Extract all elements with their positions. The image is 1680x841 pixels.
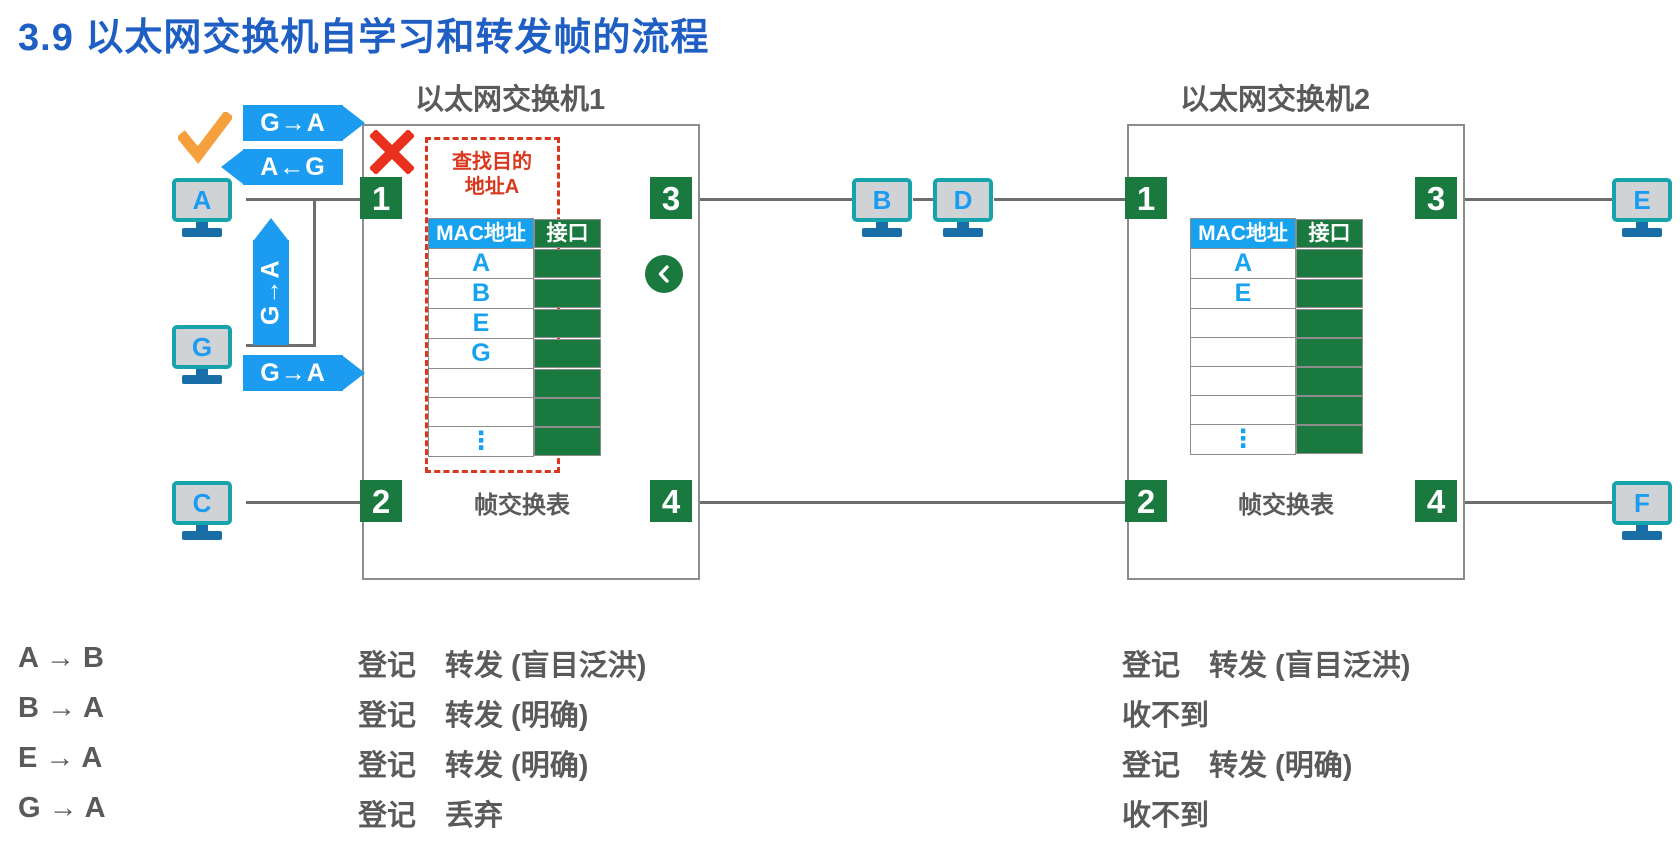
link-switch1-port4-to-switch2-port2 [690,501,1138,504]
switch2-cell-port [1296,396,1363,425]
link-switch2-to-f [1455,501,1612,504]
table-row: B 3 [429,279,535,309]
switch1-port-2[interactable]: 2 [360,480,402,522]
host-f-label: F [1612,481,1672,525]
host-stand-base [1622,531,1662,540]
host-stand-base [862,228,902,237]
table-row: ⋮ ⋮ [1191,425,1297,455]
switch2-cell-mac [1191,338,1296,367]
switch1-cell-mac: B [429,279,534,309]
host-c-label: C [172,481,232,525]
table-row: G 1 [429,339,535,369]
switch1-header-port: 接口 [534,219,601,248]
switch2-title: 以太网交换机2 [1180,76,1370,118]
link-switch2-to-e [1455,198,1612,201]
table-row [1191,309,1297,338]
switch2-port-4[interactable]: 4 [1415,480,1457,522]
table-row: A 1 [429,249,535,279]
table-row: E 4 [429,309,535,339]
table-header-row: MAC地址 接口 [429,219,535,249]
switch1-header-mac: MAC地址 [429,219,534,249]
table-row: ⋮ ⋮ [429,427,535,457]
switch2-header-port: 接口 [1296,219,1363,248]
legend-switch1-action-2: 登记 转发 (明确) [358,692,588,734]
link-switch1-to-b [690,198,852,201]
table-row [1191,367,1297,396]
host-e-label: E [1612,178,1672,222]
chevron-left-icon[interactable] [645,255,683,293]
switch2-cell-port: ⋮ [1296,425,1363,454]
legend-switch2-action-3: 登记 转发 (明确) [1122,742,1352,784]
legend-switch2-action-1: 登记 转发 (盲目泛洪) [1122,642,1410,684]
host-a[interactable]: A [172,178,232,240]
switch2-cell-port: 3 [1296,279,1363,308]
switch2-table-caption: 帧交换表 [1238,485,1334,520]
switch1-cell-port: 3 [534,279,601,308]
switch2-cell-mac [1191,309,1296,338]
frame-label-ag-in: A←G [243,149,343,185]
switch1-cell-mac [429,398,534,427]
switch1-cell-mac: A [429,249,534,279]
frame-label-ga-vertical: G→A [253,240,289,345]
frame-arrow-up-ga-vertical [254,218,288,240]
check-mark-icon [178,112,232,166]
switch2-cell-port: 2 [1296,249,1363,278]
switch2-cell-port [1296,338,1363,367]
host-b[interactable]: B [852,178,912,240]
host-stand-base [943,228,983,237]
table-row [429,369,535,398]
switch1-cell-mac: ⋮ [429,427,534,457]
switch1-title: 以太网交换机1 [415,76,605,118]
frame-label-ga-bottom: G→A [243,355,343,391]
frame-label-ga-out: G→A [243,105,343,141]
host-e[interactable]: E [1612,178,1672,240]
switch1-port-4[interactable]: 4 [650,480,692,522]
host-stand-base [182,228,222,237]
table-row [1191,396,1297,425]
host-c[interactable]: C [172,481,232,543]
link-g-riser [313,198,316,346]
legend-flow-3: E → A [18,742,102,775]
table-row: E 3 [1191,279,1297,309]
legend-switch1-action-3: 登记 转发 (明确) [358,742,588,784]
host-b-label: B [852,178,912,222]
switch2-cell-mac: E [1191,279,1296,309]
switch1-port-1[interactable]: 1 [360,177,402,219]
switch1-cell-port [534,369,601,398]
switch2-header-mac: MAC地址 [1191,219,1296,249]
switch2-cell-mac [1191,396,1296,425]
legend-switch1-action-1: 登记 转发 (盲目泛洪) [358,642,646,684]
switch1-port-3[interactable]: 3 [650,177,692,219]
table-row [1191,338,1297,367]
switch2-port-2[interactable]: 2 [1125,480,1167,522]
switch1-cell-mac: E [429,309,534,339]
frame-arrow-right-ga-out [343,106,365,140]
switch2-port-3[interactable]: 3 [1415,177,1457,219]
cross-mark-icon [370,130,414,174]
host-d-label: D [933,178,993,222]
lookup-label: 查找目的 地址A [427,150,557,200]
switch1-cell-port: ⋮ [534,427,601,456]
switch2-cell-mac [1191,367,1296,396]
host-f[interactable]: F [1612,481,1672,543]
switch1-cell-port: 4 [534,309,601,338]
host-g[interactable]: G [172,325,232,387]
switch1-frame-table: MAC地址 接口 A 1 B 3 E 4 G 1 ⋮ ⋮ [428,218,535,457]
lookup-label-line1: 查找目的 [427,150,557,175]
switch1-cell-port: 1 [534,249,601,278]
host-stand-base [182,375,222,384]
switch1-cell-port: 1 [534,339,601,368]
switch2-cell-port [1296,367,1363,396]
link-b-to-d [913,198,933,201]
table-row [429,398,535,427]
host-d[interactable]: D [933,178,993,240]
legend-flow-2: B → A [18,692,104,725]
lookup-label-line2: 地址A [427,175,557,200]
switch2-cell-port [1296,309,1363,338]
link-d-to-switch2 [994,198,1134,201]
switch1-table-caption: 帧交换表 [474,485,570,520]
host-stand-base [1622,228,1662,237]
table-row: A 2 [1191,249,1297,279]
switch2-cell-mac: A [1191,249,1296,279]
legend-flow-1: A → B [18,642,104,675]
switch1-cell-mac: G [429,339,534,369]
legend-switch2-action-4: 收不到 [1122,792,1209,834]
legend-switch1-action-4: 登记 丢弃 [358,792,503,834]
switch1-cell-port [534,398,601,427]
page-title: 3.9 以太网交换机自学习和转发帧的流程 [18,6,709,61]
host-a-label: A [172,178,232,222]
legend-flow-4: G → A [18,792,106,825]
host-g-label: G [172,325,232,369]
host-stand-base [182,531,222,540]
switch2-cell-mac: ⋮ [1191,425,1296,455]
legend-switch2-action-2: 收不到 [1122,692,1209,734]
switch2-frame-table: MAC地址 接口 A 2 E 3 ⋮ ⋮ [1190,218,1297,455]
switch1-cell-mac [429,369,534,398]
table-header-row: MAC地址 接口 [1191,219,1297,249]
frame-arrow-right-ga-bottom [343,356,365,390]
switch2-port-1[interactable]: 1 [1125,177,1167,219]
